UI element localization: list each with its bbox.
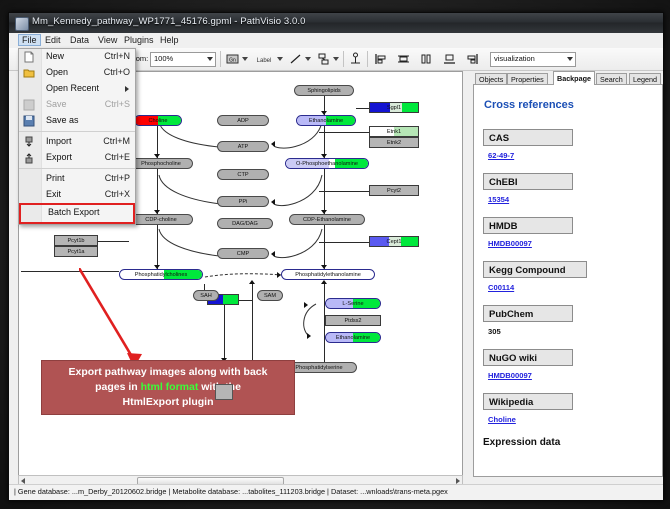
chevron-right-icon xyxy=(125,86,129,92)
visualization-combo[interactable]: visualization xyxy=(490,52,576,67)
save-as-icon xyxy=(23,115,35,127)
metabolite-ethanolamine-bottom[interactable]: Ethanolamine xyxy=(325,332,381,343)
annotation-callout: Export pathway images along with back pa… xyxy=(41,360,295,415)
metabolite-atp[interactable]: ATP xyxy=(217,141,269,152)
gene-ptdss2[interactable]: Ptdss2 xyxy=(325,315,381,326)
menu-view[interactable]: View xyxy=(94,34,121,46)
align-right-icon[interactable] xyxy=(465,52,480,66)
tab-backpage[interactable]: Backpage xyxy=(553,71,595,85)
menu-file[interactable]: File xyxy=(18,34,41,46)
svg-text:Gn: Gn xyxy=(229,58,236,64)
metabolite-dag[interactable]: DAG/DAG xyxy=(217,218,273,229)
menu-help[interactable]: Help xyxy=(156,34,183,46)
metabolite-adp[interactable]: ADP xyxy=(217,115,269,126)
xref-header-chebi: ChEBI xyxy=(483,173,573,190)
metabolite-ethanolamine-top[interactable]: Ethanolamine xyxy=(296,115,356,126)
xref-header-kegg: Kegg Compound xyxy=(483,261,587,278)
menu-item-export[interactable]: Export Ctrl+E xyxy=(19,150,135,166)
metabolite-o-phosphoethanolamine[interactable]: O-Phosphoethanolamine xyxy=(285,158,369,169)
menu-item-open-recent[interactable]: Open Recent xyxy=(19,81,135,97)
menu-divider xyxy=(19,168,135,169)
gene-cept1[interactable]: Cept1 xyxy=(369,236,419,247)
menu-bar: File Edit Data View Plugins Help xyxy=(9,33,663,49)
gene-pcyt2[interactable]: Pcyt2 xyxy=(369,185,419,196)
pathway-anchor-box[interactable] xyxy=(215,384,233,400)
metabolite-choline[interactable]: Choline xyxy=(134,115,182,126)
xref-value-cas[interactable]: 62-49-7 xyxy=(488,151,514,160)
callout-arrow-icon xyxy=(79,268,209,368)
menu-item-new[interactable]: New Ctrl+N xyxy=(19,49,135,65)
label-dropdown-icon[interactable] xyxy=(277,57,283,61)
gene-sgpl1[interactable]: Sgpl1 xyxy=(369,102,419,113)
xref-header-cas: CAS xyxy=(483,129,573,146)
folder-open-icon xyxy=(23,67,35,79)
menu-item-save-as[interactable]: Save as xyxy=(19,113,135,129)
align-center-icon[interactable] xyxy=(396,52,411,66)
menu-item-print[interactable]: Print Ctrl+P xyxy=(19,171,135,187)
menu-edit[interactable]: Edit xyxy=(41,34,65,46)
metabolite-sphingolipids[interactable]: Sphingolipids xyxy=(294,85,354,96)
line-dropdown-icon[interactable] xyxy=(305,57,311,61)
cross-references-title: Cross references xyxy=(484,99,574,111)
window-title: Mm_Kennedy_pathway_WP1771_45176.gpml - P… xyxy=(32,16,306,27)
metabolite-phosphocholine[interactable]: Phosphocholine xyxy=(129,158,193,169)
gene-etnk2[interactable]: Etnk2 xyxy=(369,137,419,148)
visualization-value: visualization xyxy=(494,54,535,63)
status-bar: | Gene database: ...m_Derby_20120602.bri… xyxy=(9,484,663,500)
menu-divider xyxy=(19,131,135,132)
gene-product-dropdown-icon[interactable] xyxy=(242,57,248,61)
annotation-line3: HtmlExport plugin xyxy=(123,396,214,408)
metabolite-cdp-choline[interactable]: CDP-choline xyxy=(129,214,193,225)
metabolite-ppi[interactable]: PPi xyxy=(217,196,269,207)
xref-value-pubchem: 305 xyxy=(488,327,501,336)
metabolite-l-serine[interactable]: L-Serine xyxy=(325,298,381,309)
xref-value-hmdb[interactable]: HMDB00097 xyxy=(488,239,532,248)
align-left-icon[interactable] xyxy=(373,52,388,66)
backpage-content: Cross references CAS 62-49-7 ChEBI 15354… xyxy=(473,84,663,477)
menu-plugins[interactable]: Plugins xyxy=(120,34,158,46)
gene-pcyt1a[interactable]: Pcyt1a xyxy=(54,246,98,257)
xref-header-nugo: NuGO wiki xyxy=(483,349,573,366)
export-icon xyxy=(23,152,35,164)
line-icon[interactable] xyxy=(288,52,303,66)
svg-text:Label: Label xyxy=(257,58,272,64)
gene-etnk1[interactable]: Etnk1 xyxy=(369,126,419,137)
annotation-line2-a: pages in xyxy=(95,381,141,393)
status-bar-text: | Gene database: ...m_Derby_20120602.bri… xyxy=(14,487,448,496)
side-panel: Objects Properties Backpage Search Legen… xyxy=(465,71,661,475)
chevron-down-icon xyxy=(567,57,573,61)
align-bottom-icon[interactable] xyxy=(442,52,457,66)
expression-data-title: Expression data xyxy=(483,437,560,448)
xref-header-hmdb: HMDB xyxy=(483,217,573,234)
annotation-line1: Export pathway images along with back xyxy=(69,366,268,378)
gene-product-icon[interactable]: Gn xyxy=(225,52,240,66)
panel-tabstrip: Objects Properties Backpage Search Legen… xyxy=(473,71,661,85)
menu-item-batch-export[interactable]: Batch Export xyxy=(19,203,135,224)
zoom-value: 100% xyxy=(154,54,173,63)
gene-pcyt1b[interactable]: Pcyt1b xyxy=(54,235,98,246)
metabolite-sam[interactable]: SAM xyxy=(257,290,283,301)
menu-item-save: Save Ctrl+S xyxy=(19,97,135,113)
menu-data[interactable]: Data xyxy=(66,34,93,46)
metabolite-phosphatidylethanolamine[interactable]: Phosphatidylethanolamine xyxy=(281,269,375,280)
xref-value-chebi[interactable]: 15354 xyxy=(488,195,509,204)
menu-item-open[interactable]: Open Ctrl+O xyxy=(19,65,135,81)
metabolite-cdp-ethanolamine[interactable]: CDP-Ethanolamine xyxy=(289,214,365,225)
anchor-icon[interactable] xyxy=(348,52,363,66)
file-menu-dropdown: New Ctrl+N Open Ctrl+O Open Recent Save … xyxy=(18,48,136,225)
menu-item-exit[interactable]: Exit Ctrl+X xyxy=(19,187,135,203)
interaction-icon[interactable] xyxy=(316,52,331,66)
label-icon[interactable]: Label xyxy=(253,52,268,66)
metabolite-ctp[interactable]: CTP xyxy=(217,169,269,180)
xref-header-pubchem: PubChem xyxy=(483,305,573,322)
zoom-combo[interactable]: 100% xyxy=(150,52,216,67)
annotation-highlight: html format xyxy=(141,381,199,393)
xref-header-wikipedia: Wikipedia xyxy=(483,393,573,410)
chevron-down-icon xyxy=(207,57,213,61)
title-bar: Mm_Kennedy_pathway_WP1771_45176.gpml - P… xyxy=(9,13,663,34)
align-middle-icon[interactable] xyxy=(419,52,434,66)
interaction-dropdown-icon[interactable] xyxy=(333,57,339,61)
menu-item-import[interactable]: Import Ctrl+M xyxy=(19,134,135,150)
save-icon xyxy=(23,99,35,111)
desktop-background: Mm_Kennedy_pathway_WP1771_45176.gpml - P… xyxy=(0,0,670,509)
xref-value-kegg[interactable]: C00114 xyxy=(488,283,514,292)
pathvisio-application-window: Mm_Kennedy_pathway_WP1771_45176.gpml - P… xyxy=(8,12,664,501)
app-icon xyxy=(15,17,29,31)
xref-value-wikipedia[interactable]: Choline xyxy=(488,415,516,424)
metabolite-cmp[interactable]: CMP xyxy=(217,248,269,259)
new-file-icon xyxy=(23,51,35,63)
import-icon xyxy=(23,136,35,148)
xref-value-nugo[interactable]: HMDB00097 xyxy=(488,371,532,380)
